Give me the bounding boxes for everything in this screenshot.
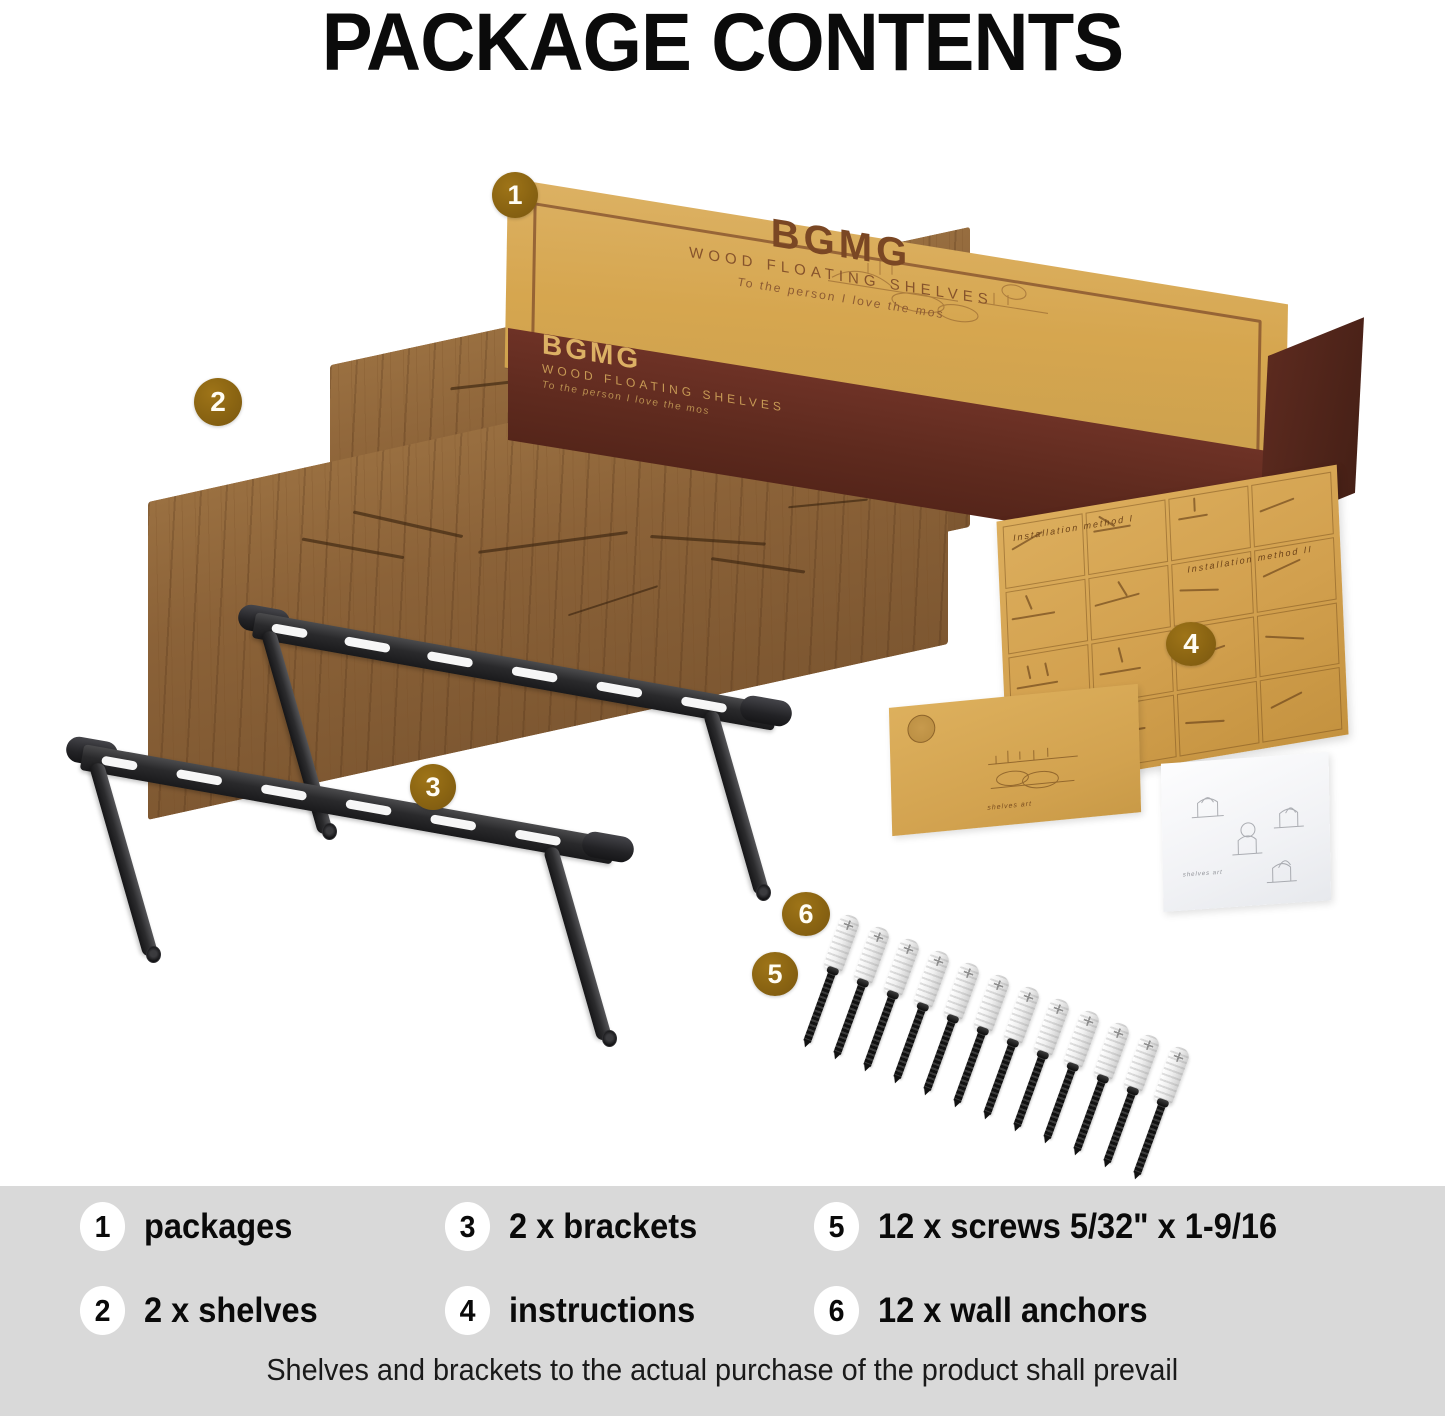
product-photo-stage: BGMG WOOD FLOATING SHELVES To the person…: [0, 96, 1445, 1186]
envelope-caption: shelves art: [987, 801, 1032, 812]
photo-badge-6: 6: [782, 892, 830, 936]
legend-label-3: 2 x brackets: [509, 1208, 697, 1246]
photo-badge-2: 2: [194, 378, 242, 426]
legend-footer: 1 packages 3 2 x brackets 5 12 x screws …: [0, 1186, 1445, 1416]
legend-disclaimer-text: Shelves and brackets to the actual purch…: [267, 1352, 1179, 1388]
legend-badge-2: 2: [80, 1286, 125, 1335]
legend-badge-1: 1: [80, 1202, 125, 1251]
legend-label-1: packages: [144, 1208, 292, 1246]
legend-row-2: 2 2 x shelves 4 instructions 6 12 x wall…: [0, 1286, 1445, 1356]
package-box: BGMG WOOD FLOATING SHELVES To the person…: [508, 178, 1328, 508]
photo-badge-3: 3: [410, 764, 456, 810]
legend-item-2: 2 2 x shelves: [78, 1286, 331, 1335]
hardware-group: [790, 886, 1240, 1176]
kraft-envelope: shelves art: [889, 684, 1141, 836]
legend-badge-3: 3: [445, 1202, 490, 1251]
legend-disclaimer: Shelves and brackets to the actual purch…: [0, 1352, 1445, 1388]
page-title: PACKAGE CONTENTS: [51, 0, 1395, 88]
legend-item-3: 3 2 x brackets: [443, 1202, 711, 1251]
legend-item-4: 4 instructions: [443, 1286, 709, 1335]
envelope-seal-icon: [907, 713, 936, 744]
package-contents-infographic: PACKAGE CONTENTS: [0, 0, 1445, 1426]
legend-badge-5: 5: [814, 1202, 859, 1251]
legend-item-5: 5 12 x screws 5/32" x 1-9/16: [812, 1202, 1307, 1251]
photo-badge-5: 5: [752, 952, 798, 996]
footer-bottom-strip: [0, 1416, 1445, 1426]
legend-label-6: 12 x wall anchors: [878, 1292, 1148, 1330]
legend-item-6: 6 12 x wall anchors: [812, 1286, 1168, 1335]
legend-label-4: instructions: [509, 1292, 695, 1330]
legend-label-5: 12 x screws 5/32" x 1-9/16: [878, 1208, 1277, 1246]
photo-badge-4: 4: [1166, 622, 1216, 666]
legend-label-2: 2 x shelves: [144, 1292, 318, 1330]
legend-item-1: 1 packages: [78, 1202, 304, 1251]
legend-badge-6: 6: [814, 1286, 859, 1335]
photo-badge-1: 1: [492, 172, 538, 218]
brackets-group: [0, 596, 810, 1116]
legend-row-1: 1 packages 3 2 x brackets 5 12 x screws …: [0, 1202, 1445, 1272]
envelope-line-art: [982, 733, 1093, 802]
legend-badge-4: 4: [445, 1286, 490, 1335]
bracket-front: [70, 738, 650, 1068]
legend-rows: 1 packages 3 2 x brackets 5 12 x screws …: [0, 1202, 1445, 1356]
